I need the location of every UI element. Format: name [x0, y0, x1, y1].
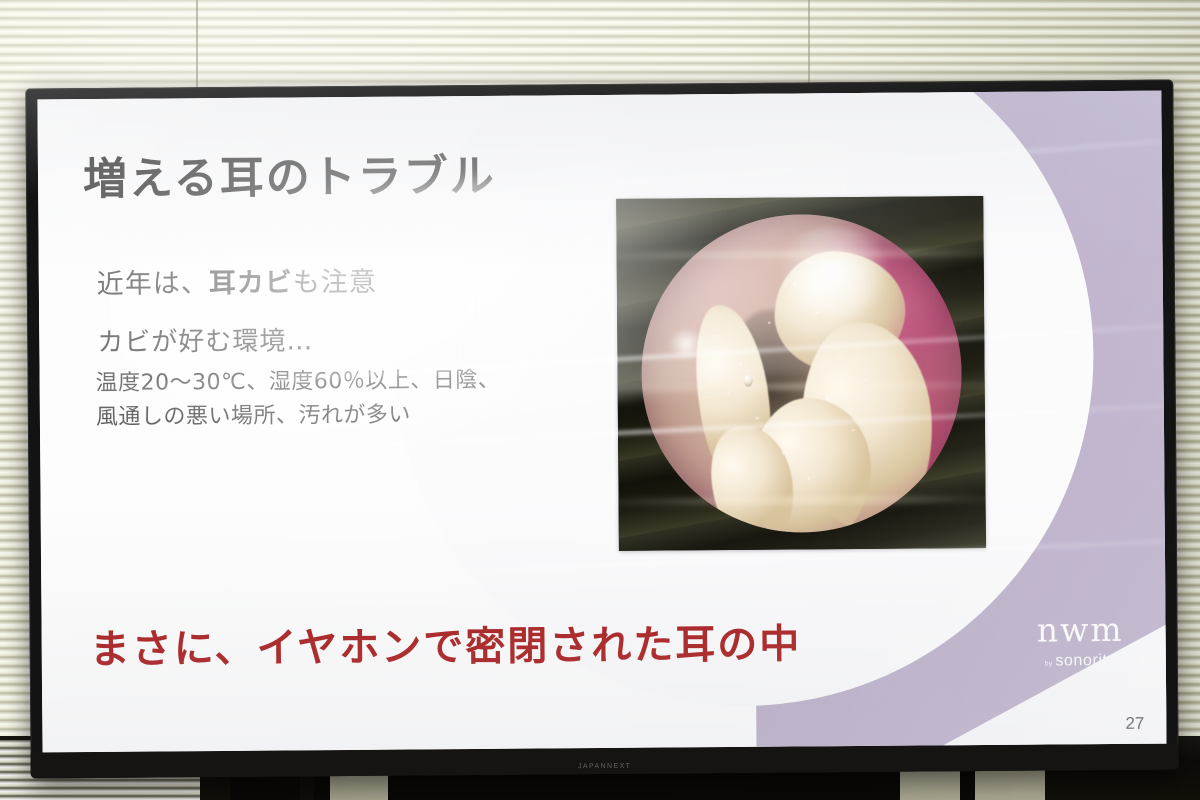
slide-red-headline: まさに、イヤホンで密閉された耳の中: [89, 611, 801, 675]
slide-lead-line: 近年は、耳カビも注意: [97, 260, 377, 301]
slide-subline-1: 温度20〜30℃、湿度60％以上、日陰、: [95, 362, 500, 397]
logo-wordmark: nwm: [1037, 613, 1124, 647]
wall-mounted-display[interactable]: JAPANNEXT 増える耳のトラブル 近年は、耳カビも注意 カビが好む環境… …: [25, 80, 1178, 779]
slide-screen[interactable]: 増える耳のトラブル 近年は、耳カビも注意 カビが好む環境… 温度20〜30℃、湿…: [37, 91, 1166, 753]
logo-company-name: sonority: [1055, 652, 1116, 670]
slide-page-number: 27: [1125, 714, 1144, 734]
endoscope-light-glare: [768, 226, 899, 317]
endoscope-circular-field: [640, 213, 962, 534]
slide-subhead: カビが好む環境…: [97, 320, 313, 359]
lead-emphasis: 耳カビ: [209, 267, 293, 299]
logo-subline: by sonority: [1037, 652, 1124, 671]
ear-endoscope-photo: [616, 196, 986, 551]
lead-prefix: 近年は、: [97, 268, 209, 300]
logo-by-text: by: [1045, 660, 1053, 667]
brand-logo: nwm by sonority: [1037, 613, 1124, 671]
lead-suffix: も注意: [293, 267, 377, 299]
display-brand-label: JAPANNEXT: [578, 763, 631, 770]
slide-subline-2: 風通しの悪い場所、汚れが多い: [96, 397, 411, 431]
slide-title: 増える耳のトラブル: [83, 140, 496, 207]
